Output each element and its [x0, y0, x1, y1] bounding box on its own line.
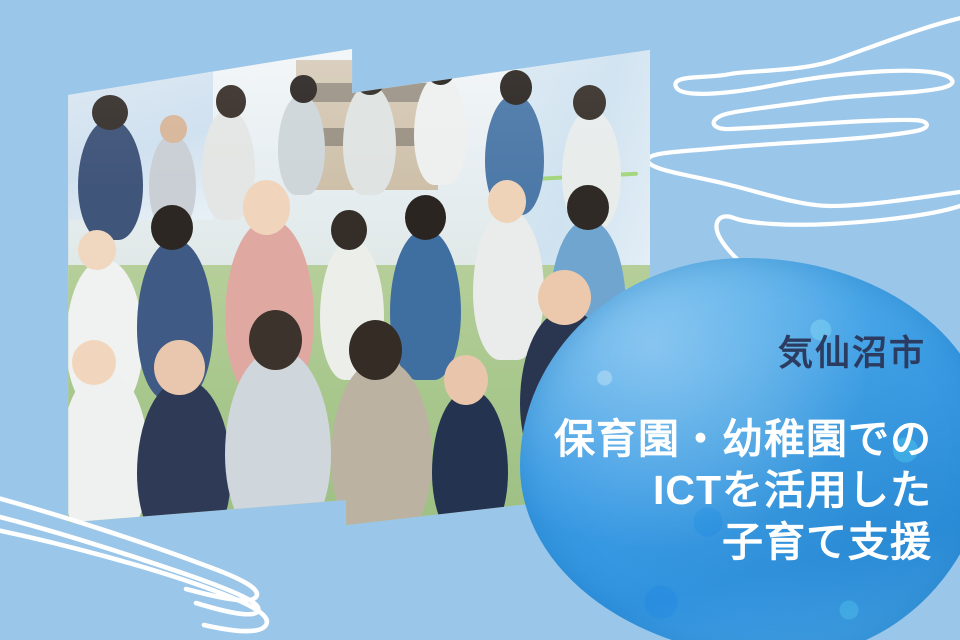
headline-line-1: 保育園・幼稚園での [554, 414, 932, 465]
headline-line-3: 子育て支援 [554, 517, 932, 568]
headline: 保育園・幼稚園での ICTを活用した 子育て支援 [554, 414, 932, 568]
poster-canvas: 気仙沼市 保育園・幼稚園での ICTを活用した 子育て支援 [0, 0, 960, 640]
squiggle-line-top-right-icon [630, 10, 960, 280]
city-label: 気仙沼市 [778, 336, 926, 371]
headline-line-2: ICTを活用した [554, 465, 932, 516]
